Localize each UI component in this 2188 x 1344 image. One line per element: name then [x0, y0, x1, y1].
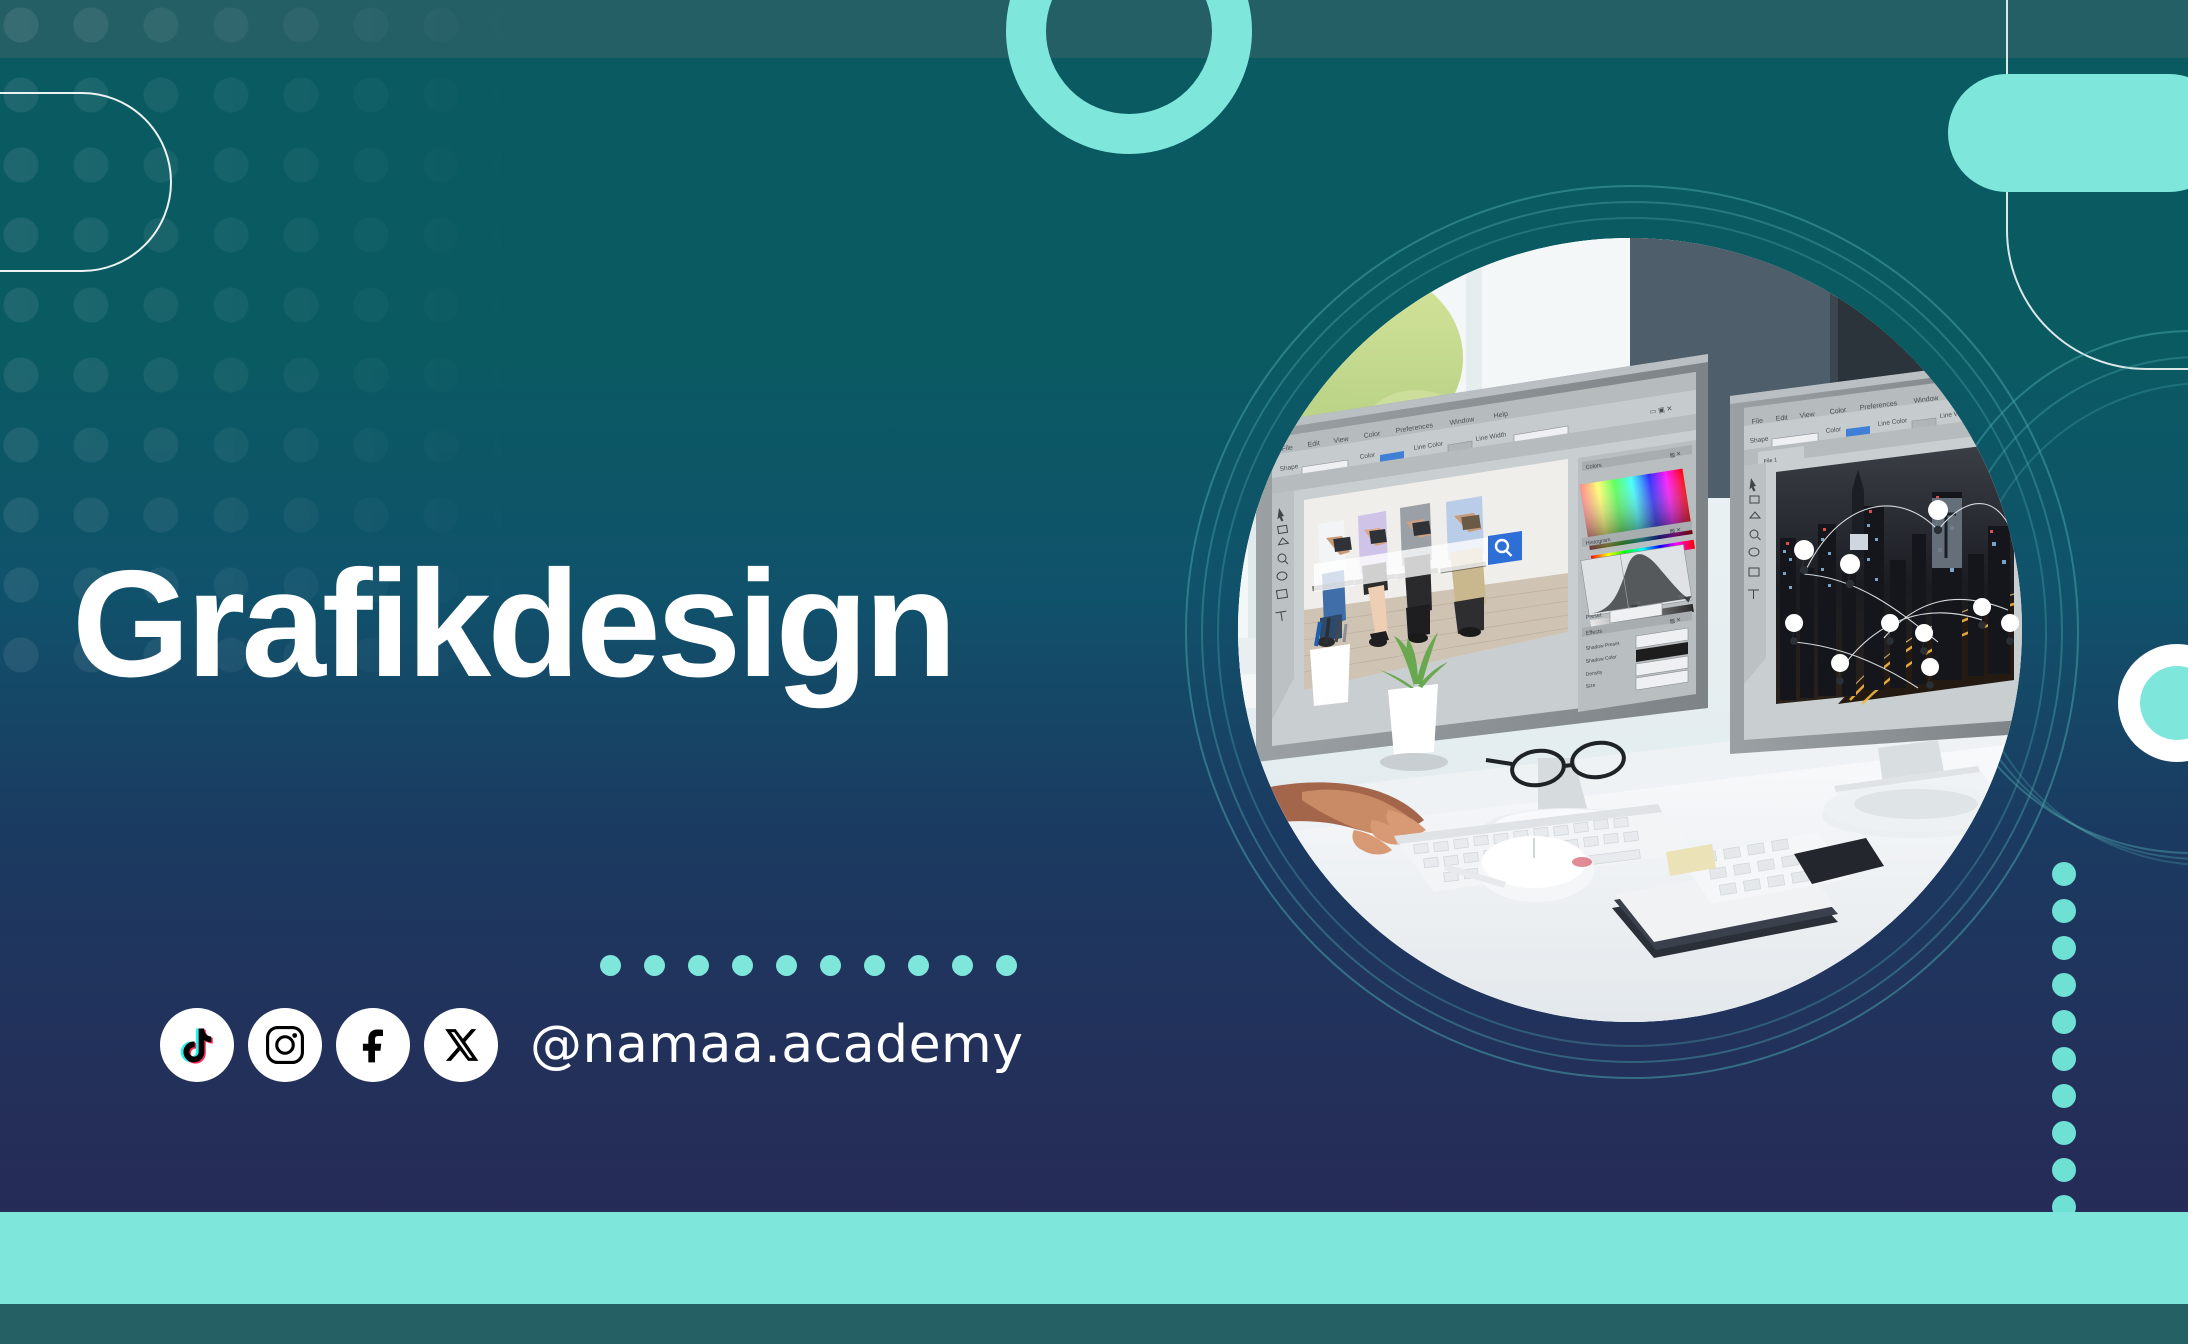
social-handle[interactable]: @namaa.academy	[530, 1015, 1023, 1075]
dot	[2052, 862, 2076, 886]
dot	[732, 955, 753, 976]
decorative-dot-row	[600, 955, 1017, 976]
x-twitter-icon[interactable]	[424, 1008, 498, 1082]
bottom-band	[0, 1304, 2188, 1344]
dot	[2052, 973, 2076, 997]
dot	[2052, 1158, 2076, 1182]
dot	[2052, 936, 2076, 960]
social-links: @namaa.academy	[160, 1008, 1023, 1082]
social-banner: File Edit View Color Preferences Window …	[0, 0, 2188, 1344]
dot	[820, 955, 841, 976]
dot	[996, 955, 1017, 976]
dot	[952, 955, 973, 976]
mint-ring-top	[1006, 0, 1252, 154]
dot	[908, 955, 929, 976]
outlined-pill-shape	[0, 92, 172, 272]
dot	[776, 955, 797, 976]
dot	[2052, 1010, 2076, 1034]
mint-pill-top-right	[1948, 74, 2188, 192]
page-title: Grafikdesign	[72, 548, 953, 700]
dot	[688, 955, 709, 976]
dot	[2052, 899, 2076, 923]
facebook-icon[interactable]	[336, 1008, 410, 1082]
mint-accent-band	[0, 1212, 2188, 1304]
dot	[2052, 1121, 2076, 1145]
dot	[2052, 1084, 2076, 1108]
hero-photo: File Edit View Color Preferences Window …	[1185, 185, 2075, 1075]
dot	[600, 955, 621, 976]
dot	[644, 955, 665, 976]
dot	[2052, 1047, 2076, 1071]
photo-clip-circle: File Edit View Color Preferences Window …	[1238, 238, 2022, 1022]
decorative-dot-column	[2052, 862, 2076, 1219]
instagram-icon[interactable]	[248, 1008, 322, 1082]
dot	[864, 955, 885, 976]
tiktok-icon[interactable]	[160, 1008, 234, 1082]
